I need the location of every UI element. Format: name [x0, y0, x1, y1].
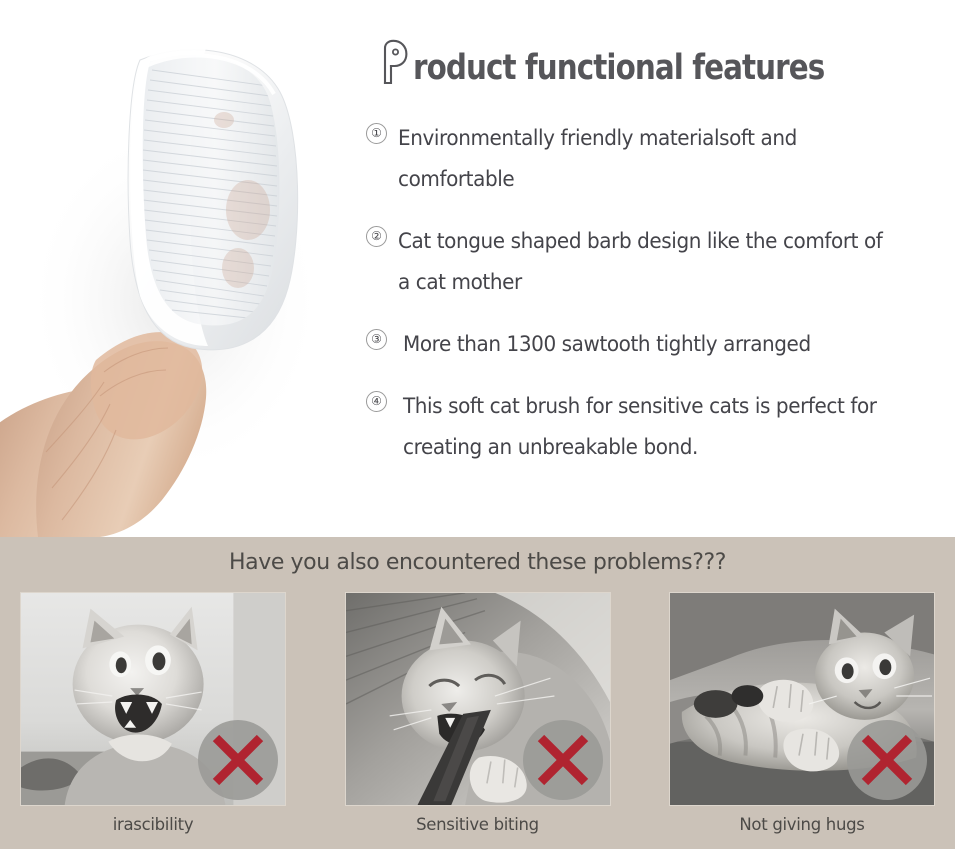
feature-text: More than 1300 sawtooth tightly arranged [403, 324, 886, 365]
problem-photo [345, 592, 611, 806]
problem-caption: Sensitive biting [345, 815, 611, 834]
page-title-text: roduct functional features [413, 48, 824, 88]
problem-card: Not giving hugs [669, 592, 935, 834]
problem-caption: Not giving hugs [669, 815, 935, 834]
feature-item: ② Cat tongue shaped barb design like the… [366, 221, 922, 303]
problem-card: Sensitive biting [345, 592, 611, 834]
product-photo [0, 0, 345, 537]
red-x-badge [197, 719, 279, 801]
feature-number: ① [366, 123, 387, 144]
problem-card-list: irascibility [20, 592, 935, 834]
feature-item: ④ This soft cat brush for sensitive cats… [366, 386, 922, 468]
page-title: roduct functional features [378, 33, 903, 88]
feature-list: ① Environmentally friendly materialsoft … [366, 118, 922, 489]
feature-item: ③ More than 1300 sawtooth tightly arrang… [366, 324, 922, 365]
hand-holding-cat-brush-photo [0, 0, 345, 537]
feature-item: ① Environmentally friendly materialsoft … [366, 118, 922, 200]
red-x-badge [846, 719, 928, 801]
dropcap-p-icon [378, 39, 412, 85]
product-feature-page: roduct functional features ① Environment… [0, 0, 955, 849]
problem-caption: irascibility [20, 815, 286, 834]
problems-section: Have you also encountered these problems… [0, 537, 955, 849]
feature-text: This soft cat brush for sensitive cats i… [403, 386, 886, 468]
feature-text: Environmentally friendly materialsoft an… [398, 118, 885, 200]
feature-number: ④ [366, 391, 387, 412]
problem-card: irascibility [20, 592, 286, 834]
feature-number: ③ [366, 329, 387, 350]
problem-photo [669, 592, 935, 806]
feature-number: ② [366, 226, 387, 247]
feature-text: Cat tongue shaped barb design like the c… [398, 221, 885, 303]
red-x-badge [522, 719, 604, 801]
product-features-section: roduct functional features ① Environment… [0, 0, 955, 537]
problems-heading: Have you also encountered these problems… [0, 550, 955, 575]
problem-photo [20, 592, 286, 806]
